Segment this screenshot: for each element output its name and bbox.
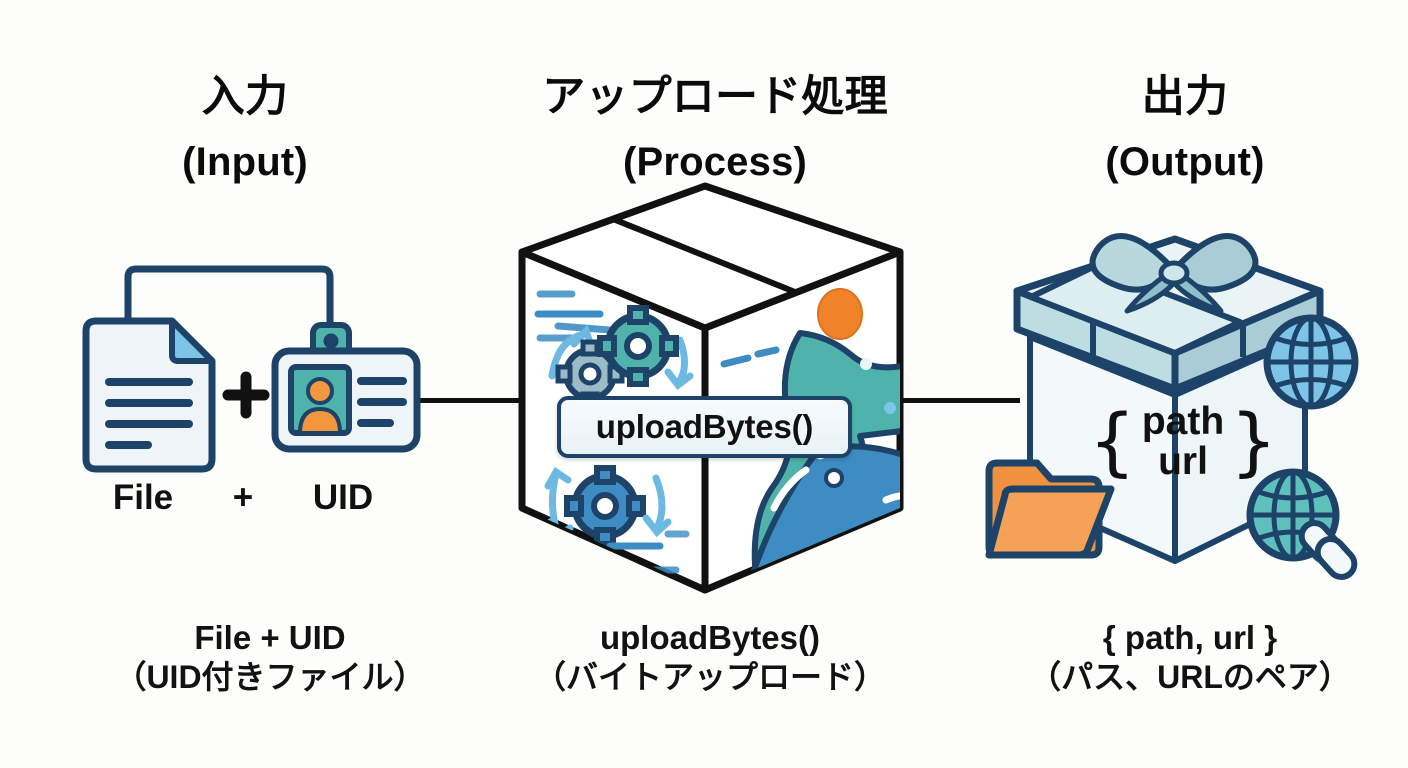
column-header-output-jp: 出力 bbox=[1035, 73, 1335, 122]
document-icon bbox=[86, 321, 212, 469]
payload-key-url: url bbox=[1158, 442, 1208, 482]
column-header-output: 出力 (Output) bbox=[1035, 55, 1335, 204]
caption-process: uploadBytes() （バイトアップロード） bbox=[505, 618, 915, 696]
orange-dot-icon bbox=[818, 289, 862, 339]
output-payload-keys: path url bbox=[1142, 402, 1224, 482]
caption-input-line1: File + UID bbox=[70, 618, 470, 658]
column-header-input-jp: 入力 bbox=[95, 73, 395, 122]
column-header-input-en: (Input) bbox=[95, 140, 395, 186]
caption-input: File + UID （UID付きファイル） bbox=[70, 618, 470, 696]
caption-process-line2: （バイトアップロード） bbox=[505, 658, 915, 696]
label-file: File bbox=[78, 478, 208, 518]
output-payload-braces: { path url } bbox=[1088, 386, 1278, 498]
caption-input-line2: （UID付きファイル） bbox=[70, 658, 470, 696]
diagram-canvas: 入力 (Input) アップロード処理 (Process) 出力 (Output… bbox=[0, 0, 1408, 768]
column-header-process-jp: アップロード処理 bbox=[520, 73, 910, 122]
column-header-input: 入力 (Input) bbox=[95, 55, 395, 204]
caption-output-line1: { path, url } bbox=[985, 618, 1395, 658]
caption-output-line2: （パス、URLのペア） bbox=[985, 658, 1395, 696]
process-illustration bbox=[500, 178, 920, 598]
label-uid: UID bbox=[278, 478, 408, 518]
id-card-icon bbox=[275, 325, 417, 449]
input-illustration bbox=[60, 255, 430, 505]
caption-output: { path, url } （パス、URLのペア） bbox=[985, 618, 1395, 696]
caption-process-line1: uploadBytes() bbox=[505, 618, 915, 658]
brace-close-icon: } bbox=[1230, 407, 1277, 477]
label-plus: + bbox=[208, 478, 278, 518]
uploadbytes-chip[interactable]: uploadBytes() bbox=[557, 396, 852, 458]
plus-sign-icon bbox=[228, 377, 264, 413]
brace-open-icon: { bbox=[1089, 407, 1136, 477]
globe-icon bbox=[1267, 318, 1355, 406]
payload-key-path: path bbox=[1142, 402, 1224, 442]
uploadbytes-chip-label: uploadBytes() bbox=[596, 408, 813, 446]
column-header-output-en: (Output) bbox=[1035, 140, 1335, 186]
